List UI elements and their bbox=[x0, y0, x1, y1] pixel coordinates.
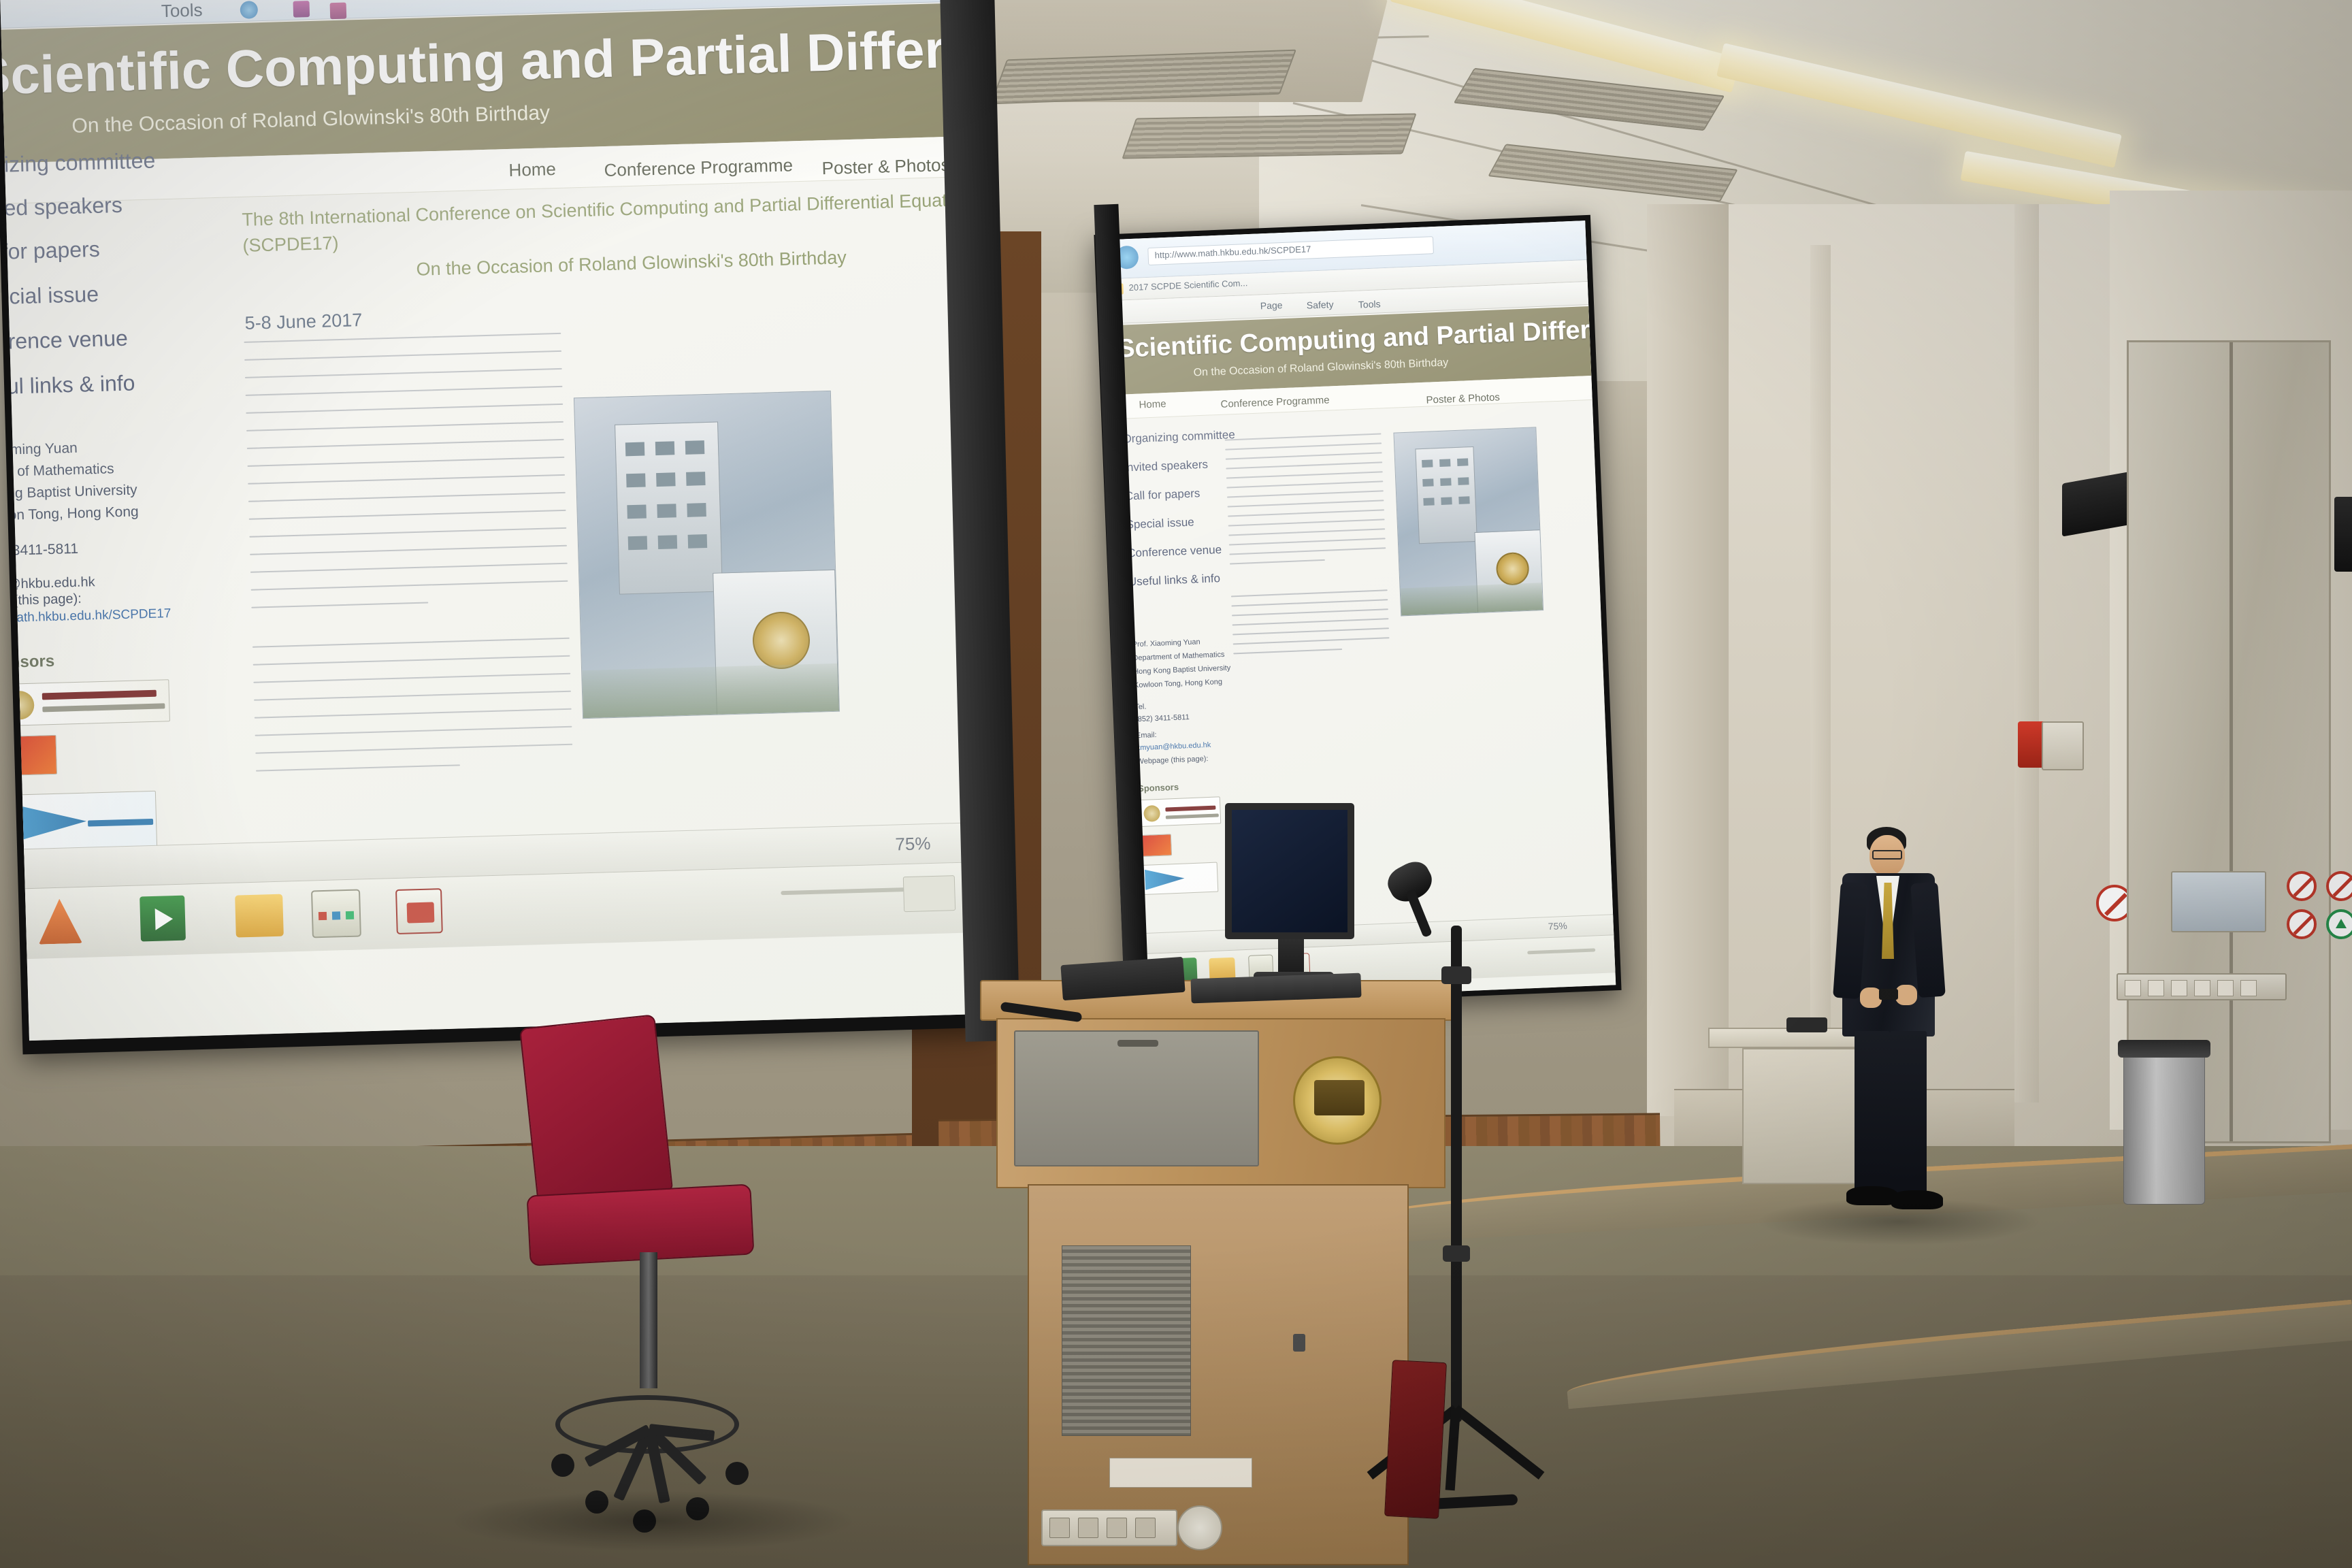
body-paragraph-2 bbox=[252, 638, 570, 647]
sponsor-wordmark-sub bbox=[42, 703, 165, 712]
browser-window-left: Tools Scientific Computing and Partial D… bbox=[0, 0, 981, 1041]
no-smoking-icon bbox=[2287, 871, 2317, 901]
nav-home[interactable]: Home bbox=[1139, 398, 1166, 411]
podium-control-panel[interactable] bbox=[1014, 1030, 1259, 1166]
presenter-right-shoe bbox=[1891, 1190, 1943, 1209]
monitor-screen[interactable] bbox=[1225, 803, 1354, 939]
body-paragraph-1 bbox=[244, 333, 561, 342]
contact-phone: (852) 3411-5811 bbox=[0, 541, 78, 560]
nav-poster-photos[interactable]: Poster & Photos bbox=[1426, 391, 1500, 406]
presenter-left-leg bbox=[1855, 1031, 1890, 1193]
presenter-right-hand bbox=[1895, 985, 1917, 1005]
conference-title-line3: On the Occasion of Roland Glowinski's 80… bbox=[416, 247, 847, 280]
nav-home[interactable]: Home bbox=[508, 159, 556, 181]
sponsor-logo-ccm bbox=[1141, 862, 1219, 895]
sidebar-item-invited-speakers[interactable]: Invited speakers bbox=[1124, 458, 1208, 475]
contact-university: Hong Kong Baptist University bbox=[0, 482, 137, 504]
sponsor-logo-hkbu bbox=[0, 679, 170, 726]
campus-photo bbox=[574, 391, 840, 719]
contact-webpage-label: Webpage (this page): bbox=[1137, 755, 1208, 766]
podium-lock[interactable] bbox=[1293, 1334, 1305, 1352]
chair-backrest bbox=[519, 1014, 673, 1204]
microphone-clutch[interactable] bbox=[1441, 966, 1471, 984]
microphone-pole bbox=[1451, 926, 1462, 1422]
contact-department: Department of Mathematics bbox=[0, 461, 114, 482]
sidebar-item-invited-speakers[interactable]: Invited speakers bbox=[0, 193, 122, 222]
podium-monitor[interactable] bbox=[1225, 803, 1388, 1000]
sidebar-item-organizing-committee[interactable]: Organizing committee bbox=[1122, 428, 1235, 446]
trash-bin-lid bbox=[2118, 1040, 2210, 1058]
sidebar-item-conference-venue[interactable]: Conference venue bbox=[0, 326, 128, 356]
site-sidebar-right: Organizing committee Invited speakers Ca… bbox=[1122, 426, 1286, 609]
lift-door[interactable] bbox=[2127, 340, 2331, 1143]
door-seam bbox=[2229, 342, 2233, 1141]
lecture-hall-photo: Tools Scientific Computing and Partial D… bbox=[0, 0, 2352, 1568]
recycle-icon bbox=[2326, 909, 2352, 939]
building-block bbox=[1415, 446, 1477, 544]
sidebar-item-useful-links-info[interactable]: Useful links & info bbox=[0, 370, 135, 400]
contact-email[interactable]: xmyuan@hkbu.edu.hk bbox=[1136, 741, 1211, 752]
presenter-clicker bbox=[1879, 989, 1898, 1000]
photo-foliage bbox=[582, 664, 839, 718]
chair-caster bbox=[686, 1497, 709, 1520]
sponsors-label: Sponsors bbox=[1138, 782, 1179, 794]
calculator-icon[interactable] bbox=[311, 889, 361, 938]
menu-item-tools[interactable]: Tools bbox=[1358, 298, 1381, 310]
contact-name: Prof. Xiaoming Yuan bbox=[0, 440, 78, 460]
no-food-icon bbox=[2287, 909, 2317, 939]
signage-cluster bbox=[2287, 871, 2352, 939]
conference-date: 5-8 June 2017 bbox=[244, 310, 362, 334]
office-chair[interactable] bbox=[517, 1021, 803, 1538]
pdf-combine-icon[interactable] bbox=[330, 3, 347, 20]
menu-item-safety[interactable]: Safety bbox=[1307, 299, 1334, 311]
trash-bin bbox=[2123, 1048, 2205, 1205]
menu-item-page[interactable]: Page bbox=[1260, 299, 1282, 311]
projection-screen-left: Tools Scientific Computing and Partial D… bbox=[0, 0, 981, 1041]
sidebar-item-useful-links-info[interactable]: Useful links & info bbox=[1128, 572, 1221, 589]
nav-poster-photos[interactable]: Poster & Photos bbox=[821, 154, 950, 179]
no-drinks-icon bbox=[2326, 871, 2352, 901]
folder-icon[interactable] bbox=[235, 894, 284, 938]
contact-department: Department of Mathematics bbox=[1132, 651, 1224, 662]
podium-vent bbox=[1062, 1245, 1191, 1436]
building-block bbox=[615, 422, 723, 595]
taskbar-clock[interactable] bbox=[903, 875, 955, 912]
contact-phone: (852) 3411-5811 bbox=[1135, 713, 1190, 723]
microphone-height-adjust[interactable] bbox=[1443, 1245, 1470, 1262]
conference-title-line1: The 8th International Conference on Scie… bbox=[242, 189, 981, 231]
monitor-stand bbox=[1278, 939, 1304, 975]
podium-panel-handle[interactable] bbox=[1117, 1040, 1158, 1047]
sidebar-item-call-for-papers[interactable]: Call for papers bbox=[1124, 487, 1200, 503]
sidebar-item-call-for-papers[interactable]: Call for papers bbox=[0, 237, 100, 266]
chair-caster bbox=[725, 1462, 749, 1485]
presenter-right-leg bbox=[1890, 1031, 1927, 1197]
nav-conference-programme[interactable]: Conference Programme bbox=[604, 154, 793, 181]
sidebar-item-organizing-committee[interactable]: Organizing committee bbox=[0, 148, 155, 179]
sponsor-wordmark bbox=[42, 690, 157, 700]
briefcase bbox=[1384, 1360, 1447, 1519]
wall-joint bbox=[2014, 204, 2039, 1102]
air-vent bbox=[1122, 113, 1416, 159]
chair-caster bbox=[551, 1454, 574, 1477]
wall-control-panel[interactable] bbox=[2042, 721, 2084, 770]
university-seal-icon bbox=[1293, 1056, 1382, 1145]
pdf-reader-icon[interactable] bbox=[395, 888, 443, 934]
sidebar-item-special-issue[interactable]: Special issue bbox=[1126, 516, 1194, 532]
campus-photo bbox=[1393, 427, 1543, 616]
chair-caster bbox=[585, 1490, 608, 1514]
chair-caster bbox=[633, 1509, 656, 1533]
sponsor-arrow-icon bbox=[1145, 868, 1185, 890]
sponsor-wordmark bbox=[88, 819, 153, 827]
site-banner-subtitle: On the Occasion of Roland Glowinski's 80… bbox=[1193, 357, 1448, 379]
presenter-left-shoe bbox=[1846, 1186, 1898, 1205]
wall-column bbox=[1647, 204, 1729, 1116]
contact-city: Kowloon Tong, Hong Kong bbox=[1134, 678, 1222, 689]
sponsor-logo-red bbox=[1140, 834, 1172, 857]
traffic-cone-icon[interactable] bbox=[37, 898, 82, 945]
site-sidebar-left: Organizing committee Invited speakers Ca… bbox=[4, 129, 237, 421]
contact-webpage-label: Webpage (this page): bbox=[0, 591, 82, 610]
nav-conference-programme[interactable]: Conference Programme bbox=[1220, 394, 1330, 410]
sponsor-seal-icon bbox=[1143, 805, 1160, 822]
zoom-level-right[interactable]: 75% bbox=[1548, 920, 1567, 932]
sidebar-item-conference-venue[interactable]: Conference venue bbox=[1127, 543, 1222, 561]
taskbar-tray-divider bbox=[1527, 948, 1595, 954]
media-player-icon[interactable] bbox=[140, 896, 186, 942]
projection-screen-left-frame: Tools Scientific Computing and Partial D… bbox=[0, 0, 989, 1054]
power-strip[interactable] bbox=[1041, 1509, 1177, 1546]
sponsor-logo-hkbu bbox=[1139, 796, 1222, 827]
sponsor-arrow-icon bbox=[4, 800, 87, 845]
lift-call-panel[interactable] bbox=[2171, 871, 2266, 932]
cable-reel bbox=[1177, 1505, 1222, 1550]
podium-nameplate bbox=[1109, 1458, 1252, 1488]
menu-item-tools[interactable]: Tools bbox=[161, 0, 203, 22]
chair-gas-post bbox=[640, 1252, 657, 1388]
presenter-glasses-icon bbox=[1872, 850, 1902, 860]
zoom-level-left[interactable]: 75% bbox=[895, 833, 931, 855]
contact-university: Hong Kong Baptist University bbox=[1133, 664, 1230, 676]
light-switch-panel[interactable] bbox=[2117, 973, 2287, 1000]
sidebar-item-special-issue[interactable]: Special issue bbox=[0, 282, 99, 310]
pdf-export-icon[interactable] bbox=[293, 1, 310, 18]
contact-city: Kowloon Tong, Hong Kong bbox=[0, 504, 139, 525]
contact-name: Prof. Xiaoming Yuan bbox=[1132, 638, 1200, 649]
wall-speaker-icon bbox=[2334, 497, 2352, 572]
presenter bbox=[1814, 827, 1963, 1235]
contact-webpage-url[interactable]: http://www.math.hkbu.edu.hk/SCPDE17 bbox=[0, 606, 171, 627]
conference-title-line2: (SCPDE17) bbox=[242, 233, 339, 257]
